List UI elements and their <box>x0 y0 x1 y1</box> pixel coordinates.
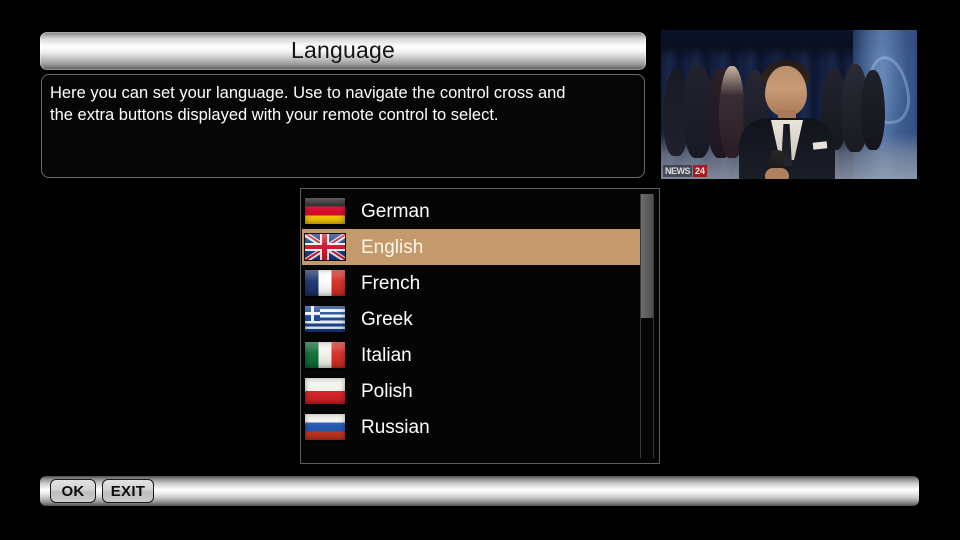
list-item[interactable]: Italian <box>302 337 642 373</box>
list-item-label: Italian <box>361 346 412 365</box>
list-item[interactable]: English <box>302 229 642 265</box>
flag-united-kingdom-icon <box>305 234 345 260</box>
tv-settings-screen: Language Here you can set your language.… <box>0 0 960 540</box>
page-title: Language <box>40 32 646 69</box>
channel-logo-primary: NEWS <box>663 165 692 177</box>
flag-russia-icon <box>305 414 345 440</box>
language-list[interactable]: German English French Greek It <box>300 188 660 464</box>
list-item[interactable]: Polish <box>302 373 642 409</box>
list-item-label: German <box>361 202 430 221</box>
scrollbar[interactable] <box>640 194 654 458</box>
bottom-bar: OK EXIT <box>40 476 919 506</box>
list-item-label: French <box>361 274 420 293</box>
presenter-hand <box>765 168 789 179</box>
list-item-label: Polish <box>361 382 413 401</box>
channel-logo: NEWS 24 <box>663 164 707 177</box>
list-item[interactable]: French <box>302 265 642 301</box>
list-item[interactable]: Russian <box>302 409 642 445</box>
channel-logo-secondary: 24 <box>693 165 707 177</box>
flag-germany-icon <box>305 198 345 224</box>
flag-italy-icon <box>305 342 345 368</box>
presenter-head <box>765 66 807 116</box>
title-bar: Language <box>40 32 646 70</box>
list-item-label: Greek <box>361 310 413 329</box>
list-item[interactable]: German <box>302 193 642 229</box>
flag-greece-icon <box>305 306 345 332</box>
flag-france-icon <box>305 270 345 296</box>
crowd-figure <box>861 70 885 150</box>
language-list-rows: German English French Greek It <box>302 193 642 445</box>
description-text: Here you can set your language. Use to n… <box>50 82 636 126</box>
flag-poland-icon <box>305 378 345 404</box>
video-preview[interactable]: NEWS 24 <box>661 30 917 179</box>
list-item[interactable]: Greek <box>302 301 642 337</box>
description-panel: Here you can set your language. Use to n… <box>41 74 645 178</box>
ok-button[interactable]: OK <box>50 479 96 503</box>
list-item-label: English <box>361 238 423 257</box>
scrollbar-thumb[interactable] <box>641 194 653 318</box>
list-item-label: Russian <box>361 418 430 437</box>
presenter-pocket-square <box>813 141 828 149</box>
exit-button[interactable]: EXIT <box>102 479 154 503</box>
